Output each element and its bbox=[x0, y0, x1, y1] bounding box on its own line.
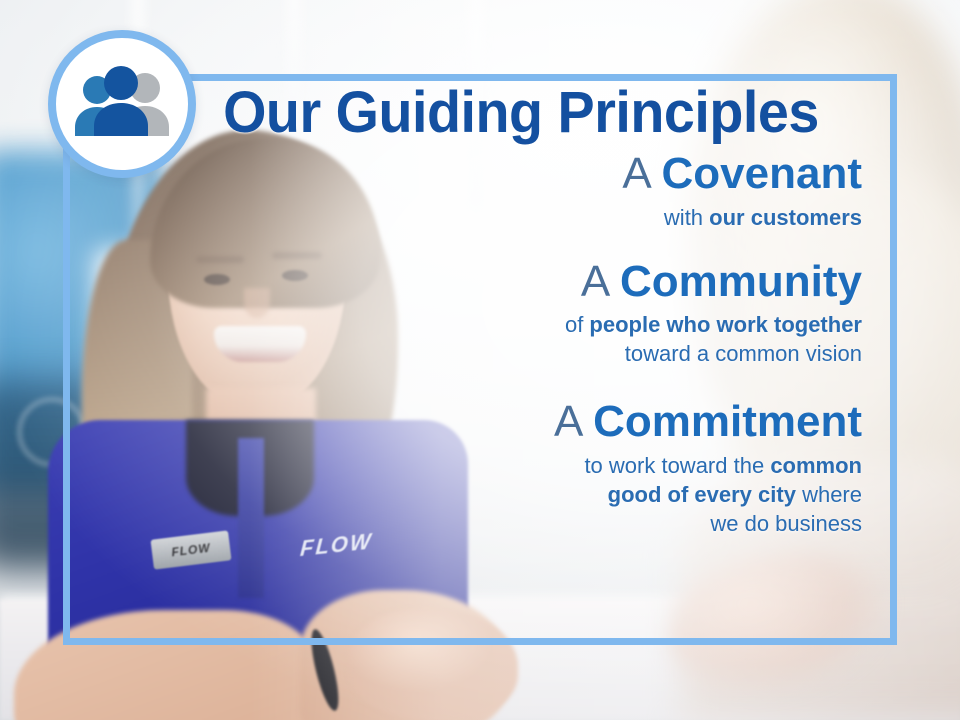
principle-commitment: A Commitment to work toward the commongo… bbox=[180, 398, 862, 538]
principle-subtext: to work toward the commongood of every c… bbox=[180, 451, 862, 538]
guiding-principles-banner: FLOW FLOW bbox=[0, 0, 960, 720]
principle-article: A bbox=[581, 257, 608, 306]
principle-keyword: Commitment bbox=[593, 397, 862, 446]
people-group-icon bbox=[69, 66, 175, 142]
principle-subtext: with our customers bbox=[180, 203, 862, 232]
principle-title: A Covenant bbox=[180, 150, 862, 198]
principle-covenant: A Covenant with our customers bbox=[180, 150, 862, 232]
principle-title: A Commitment bbox=[180, 398, 862, 446]
principles-text-block: Our Guiding Principles A Covenant with o… bbox=[180, 84, 880, 538]
principle-keyword: Community bbox=[620, 257, 862, 306]
principle-subtext: of people who work togethertoward a comm… bbox=[180, 310, 862, 368]
principle-community: A Community of people who work togethert… bbox=[180, 258, 862, 369]
people-group-badge bbox=[48, 30, 196, 178]
page-title: Our Guiding Principles bbox=[194, 84, 849, 142]
principle-article: A bbox=[622, 149, 649, 198]
principle-article: A bbox=[554, 397, 581, 446]
principle-title: A Community bbox=[180, 258, 862, 306]
principle-keyword: Covenant bbox=[662, 149, 862, 198]
